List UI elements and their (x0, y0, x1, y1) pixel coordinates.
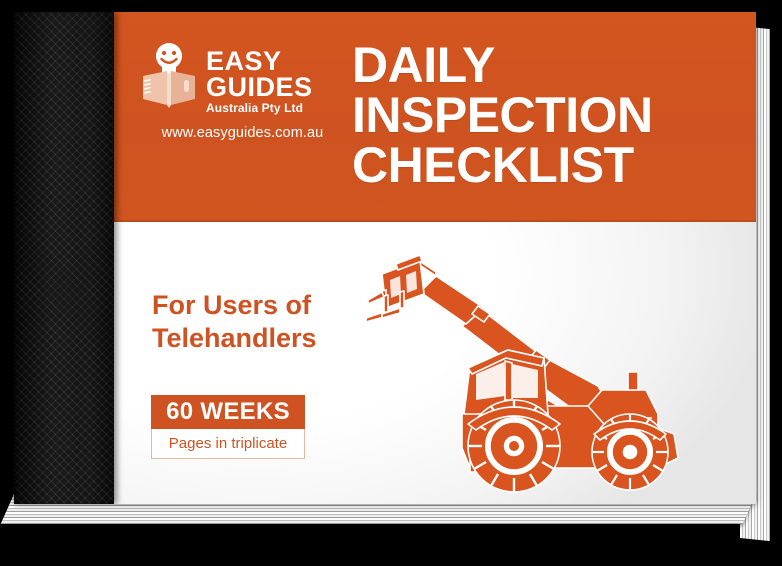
title-line-3: CHECKLIST (352, 140, 653, 190)
subtitle-line-1: For Users of (152, 289, 317, 322)
badge-note: Pages in triplicate (151, 429, 305, 459)
cover-subtitle: For Users of Telehandlers (152, 289, 317, 355)
book-with-smiley-face-icon (140, 42, 198, 114)
brand-name-line2: GUIDES (206, 74, 313, 100)
brand-website: www.easyguides.com.au (140, 125, 345, 141)
telehandler-icon (366, 238, 686, 500)
title-line-2: INSPECTION (352, 90, 653, 140)
title-line-1: DAILY (352, 40, 653, 90)
screenshot-stage: EASY GUIDES Australia Pty Ltd www.easygu… (0, 0, 782, 566)
book-spine-binding (14, 12, 114, 504)
brand-logo-block: EASY GUIDES Australia Pty Ltd www.easygu… (140, 40, 350, 141)
subtitle-line-2: Telehandlers (152, 322, 317, 355)
book-product-image: EASY GUIDES Australia Pty Ltd www.easygu… (14, 12, 770, 542)
badge-duration: 60 WEEKS (151, 395, 305, 429)
book-front-cover: EASY GUIDES Australia Pty Ltd www.easygu… (14, 12, 756, 504)
brand-wordmark: EASY GUIDES Australia Pty Ltd (206, 40, 313, 116)
brand-entity: Australia Pty Ltd (206, 101, 313, 116)
brand-name-line1: EASY (206, 48, 313, 74)
duration-badge: 60 WEEKS Pages in triplicate (151, 395, 305, 459)
cover-title: DAILY INSPECTION CHECKLIST (352, 40, 653, 190)
